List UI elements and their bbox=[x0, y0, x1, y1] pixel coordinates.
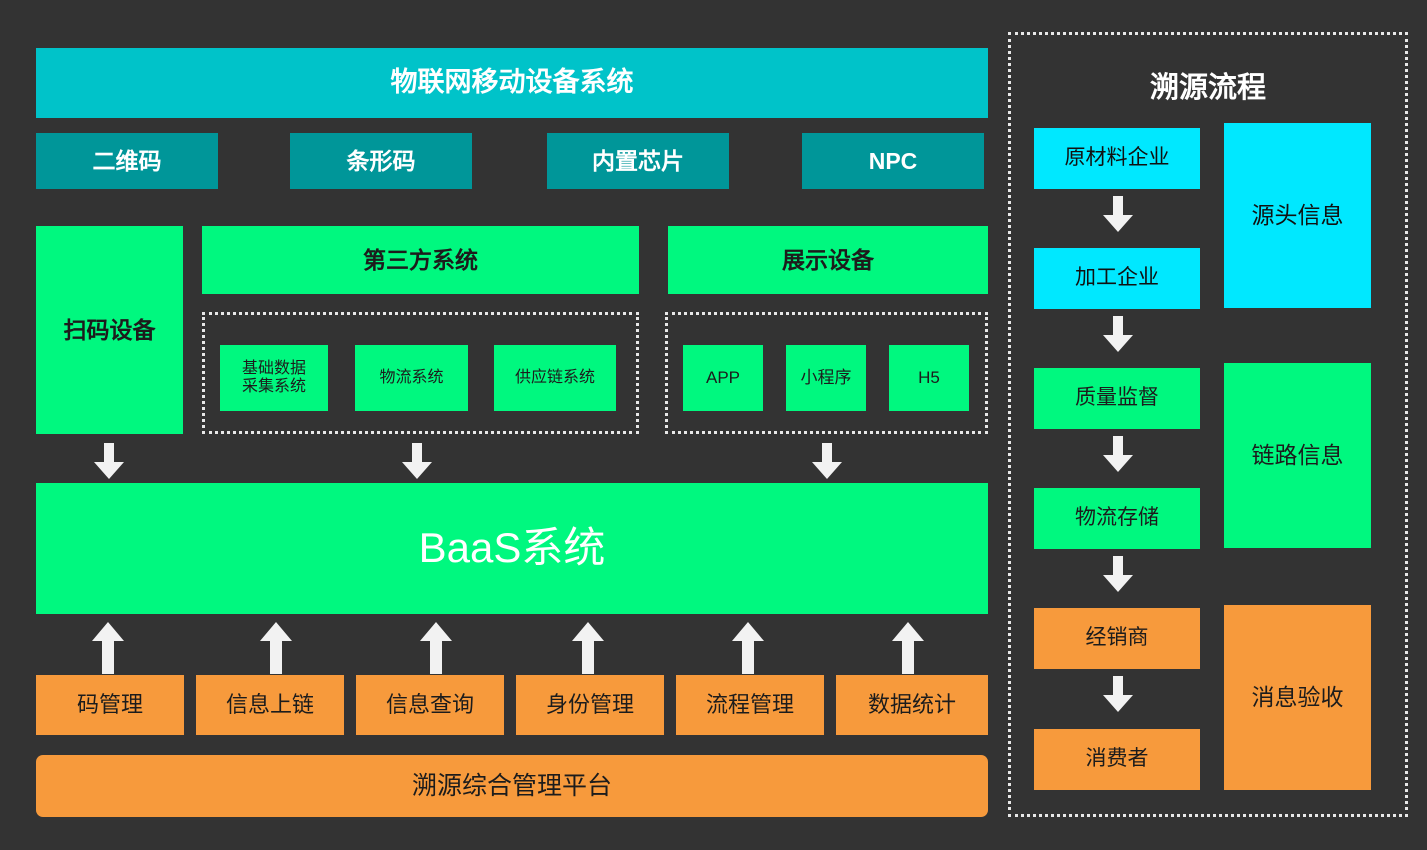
info-group-chain-info[interactable]: 链路信息 bbox=[1224, 363, 1371, 548]
arrow-down-scan-device bbox=[89, 443, 129, 479]
arrow-down-flow-3 bbox=[1100, 436, 1136, 472]
info-group-source-info[interactable]: 源头信息 bbox=[1224, 123, 1371, 308]
third-party-item-basic-data-line2: 采集系统 bbox=[242, 378, 306, 396]
third-party-item-basic-data[interactable]: 基础数据 采集系统 bbox=[220, 345, 328, 411]
iot-system-header: 物联网移动设备系统 bbox=[36, 48, 988, 118]
module-process-management[interactable]: 流程管理 bbox=[676, 675, 824, 735]
diagram-canvas: 物联网移动设备系统 二维码 条形码 内置芯片 NPC 扫码设备 第三方系统 基础… bbox=[0, 0, 1427, 850]
info-group-message-acceptance[interactable]: 消息验收 bbox=[1224, 605, 1371, 790]
arrow-down-flow-2 bbox=[1100, 316, 1136, 352]
third-party-item-supply-chain[interactable]: 供应链系统 bbox=[494, 345, 616, 411]
flow-step-raw-material-enterprise[interactable]: 原材料企业 bbox=[1034, 128, 1200, 189]
display-device-item-app[interactable]: APP bbox=[683, 345, 763, 411]
module-code-management[interactable]: 码管理 bbox=[36, 675, 184, 735]
tag-barcode[interactable]: 条形码 bbox=[290, 133, 472, 189]
module-identity-management[interactable]: 身份管理 bbox=[516, 675, 664, 735]
scan-device-box[interactable]: 扫码设备 bbox=[36, 226, 183, 434]
arrow-down-display-device bbox=[807, 443, 847, 479]
tag-npc[interactable]: NPC bbox=[802, 133, 984, 189]
baas-system-box[interactable]: BaaS系统 bbox=[36, 483, 988, 614]
flow-step-consumer[interactable]: 消费者 bbox=[1034, 729, 1200, 790]
module-info-query[interactable]: 信息查询 bbox=[356, 675, 504, 735]
flow-step-distributor[interactable]: 经销商 bbox=[1034, 608, 1200, 669]
third-party-item-basic-data-line1: 基础数据 bbox=[242, 360, 306, 378]
traceability-platform-bar[interactable]: 溯源综合管理平台 bbox=[36, 755, 988, 817]
arrow-up-module-1 bbox=[90, 622, 126, 674]
arrow-down-flow-5 bbox=[1100, 676, 1136, 712]
module-data-statistics[interactable]: 数据统计 bbox=[836, 675, 988, 735]
arrow-up-module-6 bbox=[890, 622, 926, 674]
module-info-on-chain[interactable]: 信息上链 bbox=[196, 675, 344, 735]
display-device-item-h5[interactable]: H5 bbox=[889, 345, 969, 411]
arrow-down-flow-1 bbox=[1100, 196, 1136, 232]
flow-step-logistics-storage[interactable]: 物流存储 bbox=[1034, 488, 1200, 549]
flow-step-quality-supervision[interactable]: 质量监督 bbox=[1034, 368, 1200, 429]
third-party-system-header: 第三方系统 bbox=[202, 226, 639, 294]
arrow-down-third-party bbox=[397, 443, 437, 479]
display-device-item-miniprogram[interactable]: 小程序 bbox=[786, 345, 866, 411]
arrow-up-module-3 bbox=[418, 622, 454, 674]
arrow-up-module-5 bbox=[730, 622, 766, 674]
flow-step-processing-enterprise[interactable]: 加工企业 bbox=[1034, 248, 1200, 309]
third-party-item-logistics[interactable]: 物流系统 bbox=[355, 345, 468, 411]
arrow-up-module-2 bbox=[258, 622, 294, 674]
arrow-up-module-4 bbox=[570, 622, 606, 674]
tag-qr-code[interactable]: 二维码 bbox=[36, 133, 218, 189]
tag-embedded-chip[interactable]: 内置芯片 bbox=[547, 133, 729, 189]
traceability-flow-title: 溯源流程 bbox=[1008, 62, 1408, 108]
display-device-header: 展示设备 bbox=[668, 226, 988, 294]
arrow-down-flow-4 bbox=[1100, 556, 1136, 592]
